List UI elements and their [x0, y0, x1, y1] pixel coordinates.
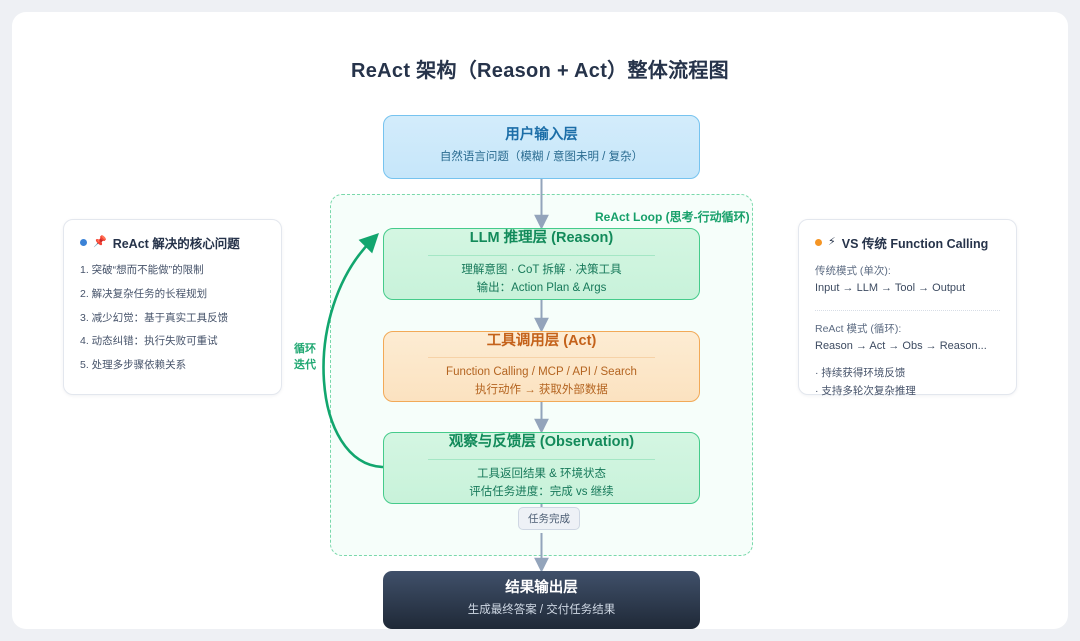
- page-title: ReAct 架构（Reason + Act）整体流程图: [12, 54, 1068, 83]
- node-llm-reason[interactable]: LLM 推理层 (Reason) 理解意图 · CoT 拆解 · 决策工具 输出…: [383, 228, 700, 300]
- node-divider: [428, 459, 655, 460]
- loop-arrow-label-line2: 迭代: [290, 358, 320, 374]
- list-item: · 支持多轮次复杂推理: [815, 382, 1000, 400]
- list-item: 5. 处理多步骤依赖关系: [80, 358, 265, 374]
- bullet-dot-icon: [815, 239, 822, 246]
- node-observation[interactable]: 观察与反馈层 (Observation) 工具返回结果 & 环境状态 评估任务进…: [383, 432, 700, 504]
- node-divider: [428, 357, 655, 358]
- task-complete-badge: 任务完成: [518, 507, 580, 530]
- node-title: LLM 推理层 (Reason): [470, 230, 613, 247]
- node-user-input[interactable]: 用户输入层 自然语言问题（模糊 / 意图未明 / 复杂）: [383, 115, 700, 179]
- node-tool-act[interactable]: 工具调用层 (Act) Function Calling / MCP / API…: [383, 331, 700, 402]
- react-loop-label: ReAct Loop (思考-行动循环): [595, 208, 750, 225]
- comparison-card: ⚡ VS 传统 Function Calling 传统模式 (单次): Inpu…: [798, 219, 1017, 395]
- node-subtitle-line2: 执行动作 → 获取外部数据: [475, 382, 608, 400]
- traditional-mode-flow: Input → LLM → Tool → Output: [815, 280, 1000, 298]
- node-title: 观察与反馈层 (Observation): [449, 434, 634, 451]
- comparison-heading: ⚡ VS 传统 Function Calling: [815, 233, 1000, 252]
- node-subtitle: 自然语言问题（模糊 / 意图未明 / 复杂）: [440, 149, 643, 167]
- lightning-bolt-icon: ⚡: [828, 237, 836, 248]
- node-subtitle-line2: 评估任务进度：完成 vs 继续: [469, 484, 613, 502]
- node-subtitle-line1: 理解意图 · CoT 拆解 · 决策工具: [461, 262, 621, 280]
- pushpin-icon: 📌: [93, 237, 107, 248]
- node-divider: [428, 255, 655, 256]
- comparison-heading-text: VS 传统 Function Calling: [842, 233, 989, 252]
- core-problems-card: 📌 ReAct 解决的核心问题 1. 突破“想而不能做”的限制 2. 解决复杂任…: [63, 219, 282, 395]
- node-subtitle-line1: Function Calling / MCP / API / Search: [446, 364, 637, 382]
- node-title: 用户输入层: [505, 127, 578, 144]
- list-item: 3. 减少幻觉：基于真实工具反馈: [80, 311, 265, 327]
- node-subtitle: 生成最终答案 / 交付任务结果: [468, 602, 616, 620]
- node-title: 工具调用层 (Act): [487, 333, 597, 350]
- core-problems-heading-text: ReAct 解决的核心问题: [113, 233, 240, 252]
- react-mode-label: ReAct 模式 (循环):: [815, 321, 1000, 338]
- loop-arrow-label: 循环 迭代: [290, 342, 320, 374]
- list-item: 2. 解决复杂任务的长程规划: [80, 287, 265, 303]
- core-problems-list: 1. 突破“想而不能做”的限制 2. 解决复杂任务的长程规划 3. 减少幻觉：基…: [80, 263, 265, 374]
- react-mode-flow: Reason → Act → Obs → Reason...: [815, 338, 1000, 356]
- loop-arrow-label-line1: 循环: [290, 342, 320, 358]
- list-item: · 持续获得环境反馈: [815, 364, 1000, 382]
- card-divider: [815, 310, 1000, 311]
- node-title: 结果输出层: [505, 580, 578, 597]
- node-subtitle-line2: 输出：Action Plan & Args: [477, 280, 607, 298]
- node-subtitle-line1: 工具返回结果 & 环境状态: [477, 466, 606, 484]
- flow-diagram: ReAct 架构（Reason + Act）整体流程图 ReAct Loop (…: [12, 12, 1068, 629]
- react-benefits-list: · 持续获得环境反馈 · 支持多轮次复杂推理: [815, 364, 1000, 401]
- list-item: 1. 突破“想而不能做”的限制: [80, 263, 265, 279]
- page-card: ReAct 架构（Reason + Act）整体流程图 ReAct Loop (…: [12, 12, 1068, 629]
- bullet-dot-icon: [80, 239, 87, 246]
- core-problems-heading: 📌 ReAct 解决的核心问题: [80, 233, 265, 252]
- traditional-mode-label: 传统模式 (单次):: [815, 263, 1000, 280]
- list-item: 4. 动态纠错：执行失败可重试: [80, 334, 265, 350]
- node-result-output[interactable]: 结果输出层 生成最终答案 / 交付任务结果: [383, 571, 700, 629]
